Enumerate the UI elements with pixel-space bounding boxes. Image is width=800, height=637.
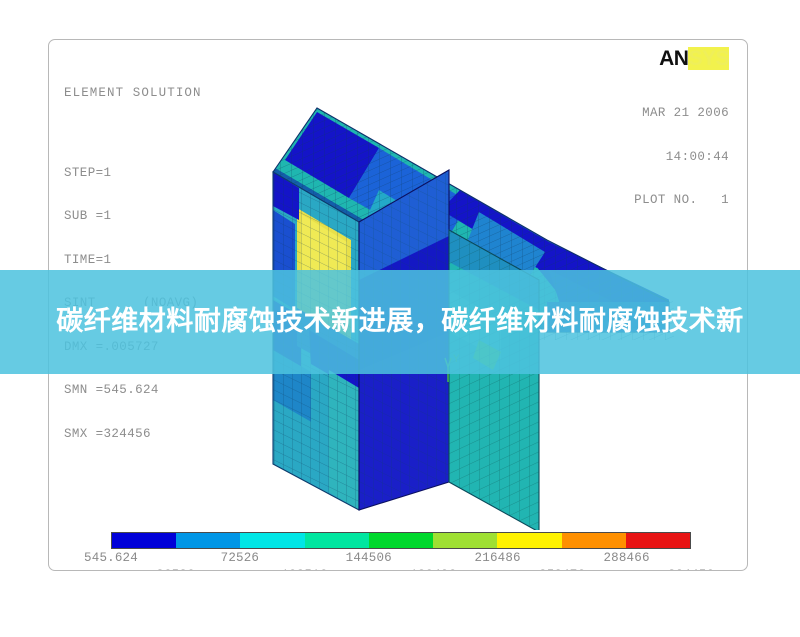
param-sub: SUB =1	[64, 209, 202, 224]
stamp-plot-no: PLOT NO. 1	[634, 193, 729, 208]
color-bar-band-1	[176, 533, 240, 548]
color-bar-band-8	[626, 533, 690, 548]
title-overlay-banner: 碳纤维材料耐腐蚀技术新进展，碳纤维材料耐腐蚀技术新	[0, 270, 800, 374]
plot-stamp-block: MAR 21 2006 14:00:44 PLOT NO. 1	[634, 77, 729, 237]
color-bar	[111, 532, 691, 549]
color-bar-label-5: 180496	[410, 568, 456, 571]
param-smn: SMN =545.624	[64, 383, 202, 398]
color-bar-band-5	[433, 533, 497, 548]
color-bar-band-3	[305, 533, 369, 548]
color-bar-label-3: 108516	[281, 568, 327, 571]
color-bar-label-6: 216486	[475, 551, 521, 565]
color-bar-band-7	[562, 533, 626, 548]
solution-title: ELEMENT SOLUTION	[64, 86, 202, 101]
param-time: TIME=1	[64, 253, 202, 268]
color-bar-label-8: 288466	[603, 551, 649, 565]
color-bar-band-4	[369, 533, 433, 548]
color-bar-label-7: 252476	[539, 568, 585, 571]
param-step: STEP=1	[64, 166, 202, 181]
color-bar-label-2: 72526	[221, 551, 260, 565]
color-bar-label-1: 36536	[156, 568, 195, 571]
ansys-logo-sys: SYS	[688, 47, 729, 70]
contour-color-legend: 545.624365367252610851614450618049621648…	[111, 532, 691, 571]
ansys-logo-an: AN	[659, 47, 688, 70]
color-bar-band-0	[112, 533, 176, 548]
ansys-logo: ANSYS	[659, 48, 729, 69]
color-bar-band-2	[240, 533, 304, 548]
stamp-time: 14:00:44	[634, 150, 729, 165]
overlay-title-text: 碳纤维材料耐腐蚀技术新进展，碳纤维材料耐腐蚀技术新	[50, 303, 750, 341]
color-bar-label-9: 324456	[668, 568, 714, 571]
color-bar-tick-labels: 545.624365367252610851614450618049621648…	[111, 549, 691, 571]
color-bar-label-4: 144506	[346, 551, 392, 565]
color-bar-label-0: 545.624	[84, 551, 138, 565]
stamp-date: MAR 21 2006	[634, 106, 729, 121]
param-smx: SMX =324456	[64, 427, 202, 442]
color-bar-band-6	[497, 533, 561, 548]
